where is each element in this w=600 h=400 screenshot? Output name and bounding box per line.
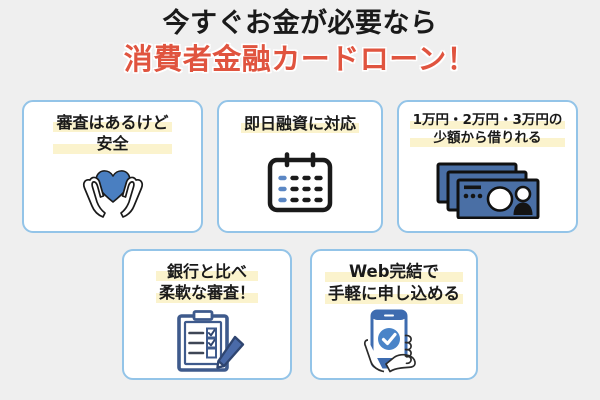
card-title-line: 手軽に申し込める bbox=[328, 283, 460, 305]
headline-line-2: 消費者金融カードローン！ bbox=[0, 41, 600, 77]
card-title-line: Web完結で bbox=[328, 261, 460, 283]
card-title-line: 審査はあるけど bbox=[56, 112, 168, 133]
feature-card-small-amounts[interactable]: 1万円・2万円・3万円の 少額から借りれる bbox=[397, 100, 578, 233]
feature-card-flexible-screening-title: 銀行と比べ 柔軟な審査！ bbox=[159, 251, 255, 304]
feature-card-safety[interactable]: 審査はあるけど 安全 bbox=[22, 100, 203, 233]
smartphone-check-hand-icon bbox=[312, 305, 476, 378]
card-title-line: 即日融資に対応 bbox=[244, 113, 356, 134]
card-title-line: 銀行と比べ bbox=[159, 261, 255, 282]
headline-line-1: 今すぐお金が必要なら bbox=[0, 7, 600, 41]
feature-card-small-amounts-title: 1万円・2万円・3万円の 少額から借りれる bbox=[413, 102, 563, 148]
headline: 今すぐお金が必要なら 消費者金融カードローン！ bbox=[0, 7, 600, 77]
card-title-line: 少額から借りれる bbox=[413, 130, 563, 148]
feature-card-web-application[interactable]: Web完結で 手軽に申し込める bbox=[310, 249, 478, 380]
feature-card-web-application-title: Web完結で 手軽に申し込める bbox=[328, 251, 460, 305]
card-title-line: 安全 bbox=[56, 133, 168, 154]
card-title-line: 1万円・2万円・3万円の bbox=[413, 112, 563, 130]
clipboard-checklist-icon bbox=[124, 304, 290, 378]
feature-card-same-day-funding[interactable]: 即日融資に対応 bbox=[217, 100, 383, 233]
feature-card-safety-title: 審査はあるけど 安全 bbox=[56, 102, 168, 155]
calendar-icon bbox=[219, 134, 381, 231]
feature-card-same-day-funding-title: 即日融資に対応 bbox=[244, 102, 356, 134]
heart-in-hands-icon bbox=[24, 155, 201, 231]
banknotes-icon bbox=[399, 148, 576, 231]
card-title-line: 柔軟な審査！ bbox=[159, 282, 255, 303]
feature-card-flexible-screening[interactable]: 銀行と比べ 柔軟な審査！ bbox=[122, 249, 292, 380]
